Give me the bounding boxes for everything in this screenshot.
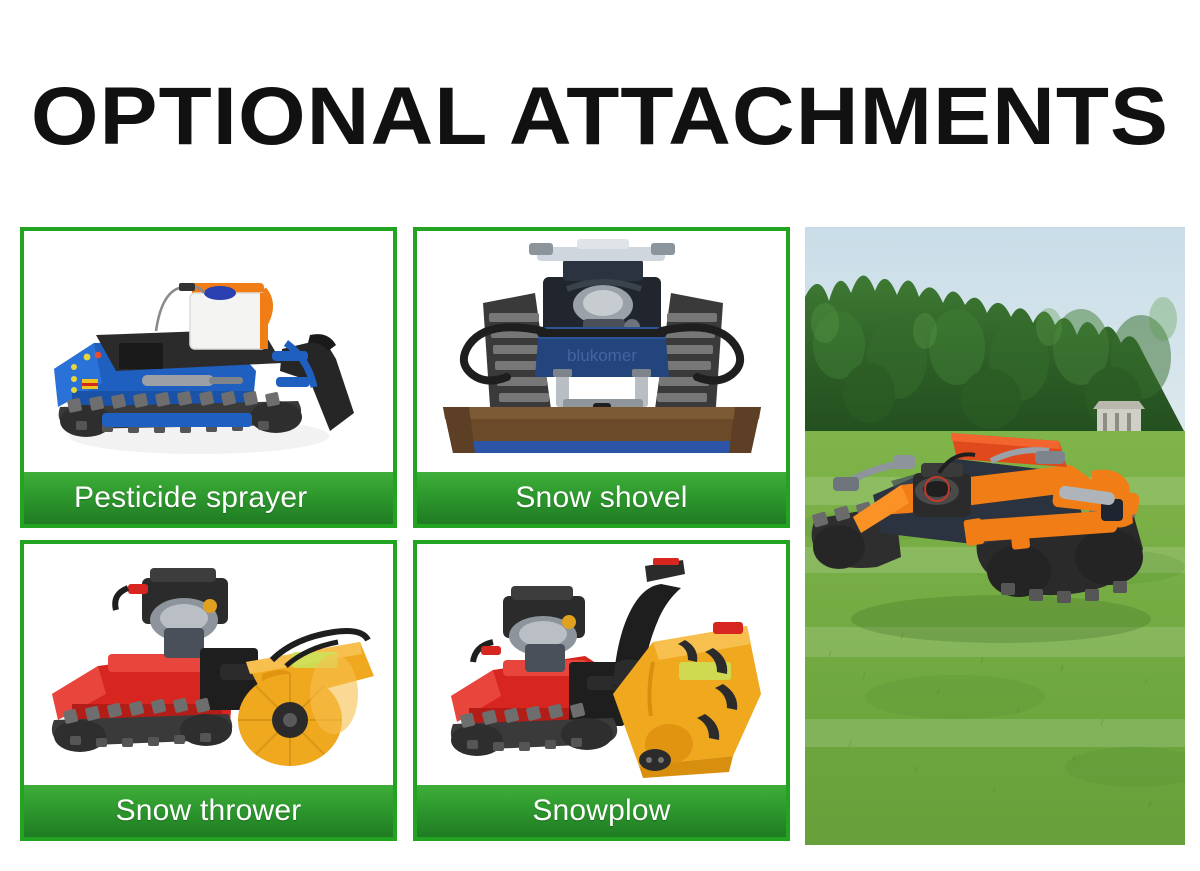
snow-shovel-photo: blukomer bbox=[417, 231, 786, 472]
attachment-card[interactable]: blukomer bbox=[413, 227, 790, 528]
attachment-card[interactable]: Pesticide sprayer bbox=[20, 227, 397, 528]
snowplow-photo bbox=[417, 544, 786, 785]
attachment-card-label: Snowplow bbox=[417, 785, 786, 837]
attachments-poster: OPTIONAL ATTACHMENTS bbox=[0, 0, 1200, 871]
pesticide-sprayer-photo bbox=[24, 231, 393, 472]
attachment-card[interactable]: Snow thrower bbox=[20, 540, 397, 841]
attachment-card-label: Pesticide sprayer bbox=[24, 472, 393, 524]
attachment-card-label: Snow shovel bbox=[417, 472, 786, 524]
page-title: OPTIONAL ATTACHMENTS bbox=[0, 74, 1200, 160]
hero-mower-photo bbox=[805, 227, 1185, 845]
svg-text:blukomer: blukomer bbox=[567, 346, 637, 365]
attachment-card-label: Snow thrower bbox=[24, 785, 393, 837]
snow-thrower-photo bbox=[24, 544, 393, 785]
attachment-card[interactable]: Snowplow bbox=[413, 540, 790, 841]
attachment-card-grid: Pesticide sprayer bbox=[20, 227, 790, 845]
